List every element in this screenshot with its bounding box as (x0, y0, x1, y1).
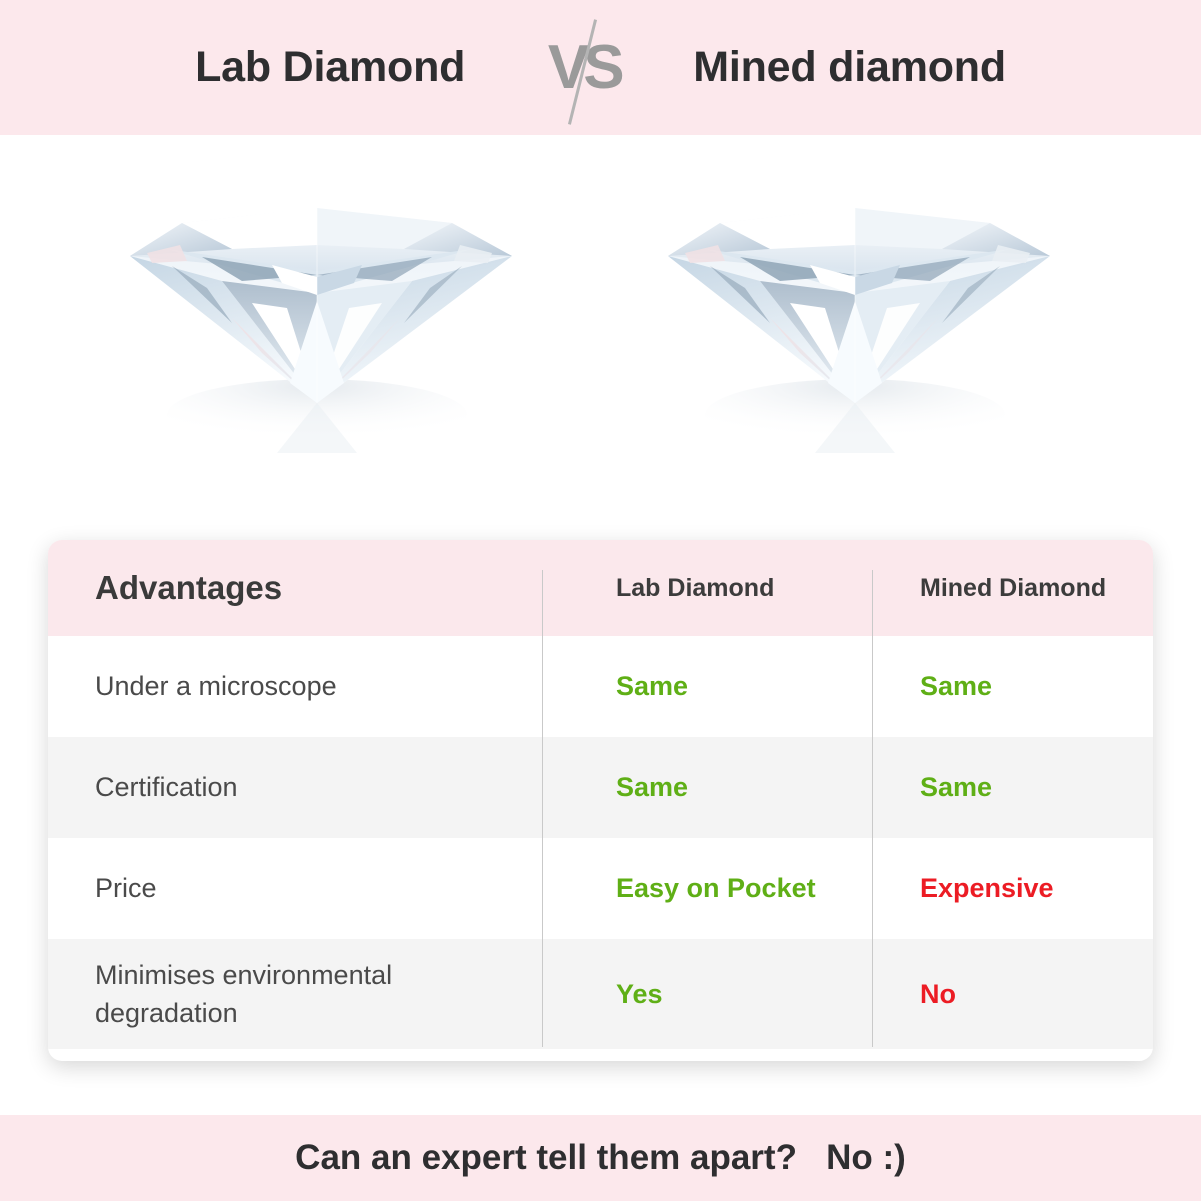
row-mined-value-cell: Expensive (872, 873, 1153, 904)
row-mined-value: Same (920, 772, 992, 802)
row-lab-value: Same (616, 772, 688, 802)
lab-diamond-image (112, 153, 532, 483)
row-mined-value-cell: Same (872, 772, 1153, 803)
versus-badge: VS (535, 16, 631, 120)
row-feature-label: Under a microscope (95, 671, 337, 701)
row-feature-label: Price (95, 873, 157, 903)
row-feature-label: Minimises environmental degradation (95, 960, 392, 1028)
diamond-images-section (0, 135, 1201, 530)
diamond-illustration-icon (112, 153, 532, 483)
row-lab-value-cell: Same (542, 772, 872, 803)
table-row: Minimises environmental degradation Yes … (48, 939, 1153, 1049)
row-lab-value-cell: Same (542, 671, 872, 702)
row-lab-value: Same (616, 671, 688, 701)
header-label-lab-diamond: Lab Diamond (616, 574, 774, 602)
header-title-mined-diamond: Mined diamond (693, 43, 1006, 92)
comparison-table-card: Advantages Lab Diamond Mined Diamond Und… (48, 540, 1153, 1061)
mined-diamond-image (650, 153, 1070, 483)
row-mined-value: Expensive (920, 873, 1054, 903)
row-feature-cell: Price (48, 869, 542, 907)
header-banner: Lab Diamond VS Mined diamond (0, 0, 1201, 135)
diamond-illustration-icon (650, 153, 1070, 483)
comparison-table: Advantages Lab Diamond Mined Diamond Und… (48, 540, 1153, 1061)
header-label-mined-diamond: Mined Diamond (920, 574, 1106, 602)
row-feature-cell: Minimises environmental degradation (48, 956, 542, 1033)
footer-question-text: Can an expert tell them apart? No :) (295, 1138, 906, 1178)
row-mined-value-cell: Same (872, 671, 1153, 702)
row-mined-value: Same (920, 671, 992, 701)
row-lab-value-cell: Easy on Pocket (542, 873, 872, 904)
row-feature-cell: Certification (48, 768, 542, 806)
row-lab-value: Yes (616, 979, 663, 1009)
table-row: Price Easy on Pocket Expensive (48, 838, 1153, 939)
row-feature-label: Certification (95, 772, 238, 802)
header-title-lab-diamond: Lab Diamond (195, 43, 465, 92)
table-row: Under a microscope Same Same (48, 636, 1153, 737)
row-lab-value: Easy on Pocket (616, 873, 816, 903)
row-mined-value: No (920, 979, 956, 1009)
header-label-advantages: Advantages (95, 569, 282, 606)
header-cell-mined-diamond: Mined Diamond (872, 574, 1153, 603)
table-row: Certification Same Same (48, 737, 1153, 838)
row-feature-cell: Under a microscope (48, 667, 542, 705)
row-mined-value-cell: No (872, 979, 1153, 1010)
header-cell-lab-diamond: Lab Diamond (542, 574, 872, 603)
column-divider-1 (542, 570, 543, 1047)
table-header-row: Advantages Lab Diamond Mined Diamond (48, 540, 1153, 636)
column-divider-2 (872, 570, 873, 1047)
footer-banner: Can an expert tell them apart? No :) (0, 1115, 1201, 1201)
row-lab-value-cell: Yes (542, 979, 872, 1010)
header-cell-advantages: Advantages (48, 569, 542, 607)
